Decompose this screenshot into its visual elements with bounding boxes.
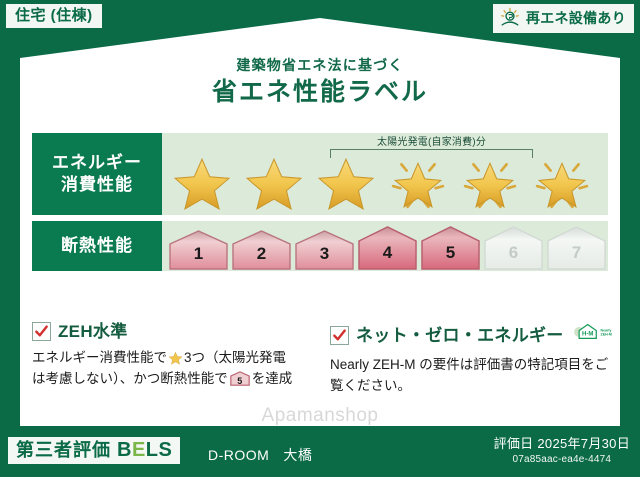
zeh-body-part3: を達成: [252, 371, 293, 386]
star-icon-3: [310, 154, 382, 212]
bels-en-pre: B: [117, 439, 132, 461]
certification-notes: ZEH水準 エネルギー消費性能で3つ（太陽光発電は考慮しない）、かつ断熱性能で5…: [32, 322, 610, 397]
star-icon-solar-4: [382, 154, 454, 212]
net-zero-energy-body: Nearly ZEH-M の要件は評価書の特記項目をご覧ください。: [330, 355, 614, 397]
insulation-level-4: 4: [357, 224, 418, 272]
label-footer: 第三者評価 BELS D-ROOM大橋 評価日 2025年7月30日 07a85…: [0, 431, 640, 477]
label-heading: 建築物省エネ法に基づく 省エネ性能ラベル: [0, 56, 640, 110]
inline-house-icon: 5: [230, 371, 250, 386]
checkbox-checked-icon: [330, 326, 349, 345]
solar-bracket-line: [330, 149, 533, 158]
renewable-equipment-badge: 再エネ設備あり: [493, 4, 634, 33]
zeh-body-star-count: 3つ（太陽光発電: [184, 350, 286, 365]
insulation-level-3: 3: [294, 228, 355, 272]
energy-performance-label: 住宅 (住棟) 再エネ設備あり 建築物省エネ法に基づく 省エネ性能ラベル: [0, 0, 640, 477]
zeh-standard-block: ZEH水準 エネルギー消費性能で3つ（太陽光発電は考慮しない）、かつ断熱性能で5…: [32, 322, 316, 397]
inline-star-icon: [168, 351, 183, 366]
energy-rating-area: 太陽光発電(自家消費)分: [162, 133, 608, 215]
insulation-level-6: 6: [483, 224, 544, 272]
insulation-level-value: 2: [257, 245, 266, 272]
energy-label-line1: エネルギー: [52, 152, 142, 174]
checkbox-checked-icon: [32, 322, 51, 341]
insulation-level-value: 4: [383, 244, 392, 272]
star-icon-2: [238, 154, 310, 212]
evaluation-date: 評価日 2025年7月30日: [494, 436, 630, 452]
svg-text:Nearly: Nearly: [600, 328, 611, 332]
insulation-rating-area: 1 2 3 4: [162, 221, 608, 271]
heading-title: 省エネ性能ラベル: [0, 76, 640, 110]
insulation-label-box: 断熱性能: [32, 221, 162, 271]
dwelling-type-tag: 住宅 (住棟): [6, 4, 102, 28]
energy-performance-row: エネルギー 消費性能 太陽光発電(自家消費)分: [32, 133, 608, 215]
evaluation-id: 07a85aac-ea4e-4474: [494, 453, 630, 466]
building-brand: D-ROOM: [208, 447, 269, 463]
svg-text:H-M: H-M: [582, 332, 593, 338]
bels-en-label: BELS: [117, 440, 172, 460]
building-name: D-ROOM大橋: [208, 445, 312, 465]
metrics-section: エネルギー 消費性能 太陽光発電(自家消費)分: [32, 133, 608, 277]
energy-performance-label-box: エネルギー 消費性能: [32, 133, 162, 215]
energy-label-line2: 消費性能: [61, 174, 133, 196]
star-icon-solar-5: [454, 154, 526, 212]
bels-jp-label: 第三者評価: [16, 441, 111, 459]
evaluation-info: 評価日 2025年7月30日 07a85aac-ea4e-4474: [494, 436, 630, 466]
insulation-performance-row: 断熱性能 1 2: [32, 221, 608, 271]
net-zero-energy-block: ネット・ゼロ・エネルギー H-M Nearly ZEH-M Nearly ZEH…: [330, 322, 614, 397]
star-icon-1: [166, 154, 238, 212]
zeh-standard-title: ZEH水準: [58, 323, 128, 340]
bels-en-post: LS: [146, 439, 173, 461]
solar-contribution-bracket: 太陽光発電(自家消費)分: [330, 137, 533, 158]
energy-star-rating: [162, 153, 608, 213]
zeh-body-part1: エネルギー消費性能で: [32, 350, 167, 365]
insulation-level-value: 6: [509, 244, 518, 272]
zeh-body-part2: は考慮しない）、かつ断熱性能で: [32, 371, 228, 386]
solar-sun-icon: [499, 7, 521, 29]
net-zero-energy-heading: ネット・ゼロ・エネルギー H-M Nearly ZEH-M: [330, 322, 614, 348]
svg-text:ZEH-M: ZEH-M: [600, 333, 611, 337]
renewable-badge-label: 再エネ設備あり: [526, 11, 626, 25]
insulation-level-2: 2: [231, 228, 292, 272]
zeh-standard-heading: ZEH水準: [32, 322, 316, 341]
insulation-level-value: 7: [572, 244, 581, 272]
insulation-level-7: 7: [546, 224, 607, 272]
insulation-level-1: 1: [168, 228, 229, 272]
inline-house-value: 5: [230, 377, 250, 386]
star-icon-solar-6: [526, 154, 598, 212]
building-label: 大橋: [283, 447, 312, 463]
bels-certification-mark: 第三者評価 BELS: [8, 437, 180, 464]
heading-subtitle: 建築物省エネ法に基づく: [0, 56, 640, 74]
solar-bracket-label: 太陽光発電(自家消費)分: [330, 137, 533, 148]
insulation-level-value: 5: [446, 244, 455, 272]
insulation-level-value: 1: [194, 245, 203, 272]
net-zero-energy-title: ネット・ゼロ・エネルギー: [356, 327, 564, 344]
zeh-standard-body: エネルギー消費性能で3つ（太陽光発電は考慮しない）、かつ断熱性能で5を達成: [32, 348, 316, 390]
insulation-level-5: 5: [420, 224, 481, 272]
insulation-level-value: 3: [320, 245, 329, 272]
zeh-m-logo-icon: H-M Nearly ZEH-M: [572, 322, 612, 348]
insulation-level-scale: 1 2 3 4: [168, 224, 607, 272]
bels-en-mid: E: [132, 439, 146, 461]
